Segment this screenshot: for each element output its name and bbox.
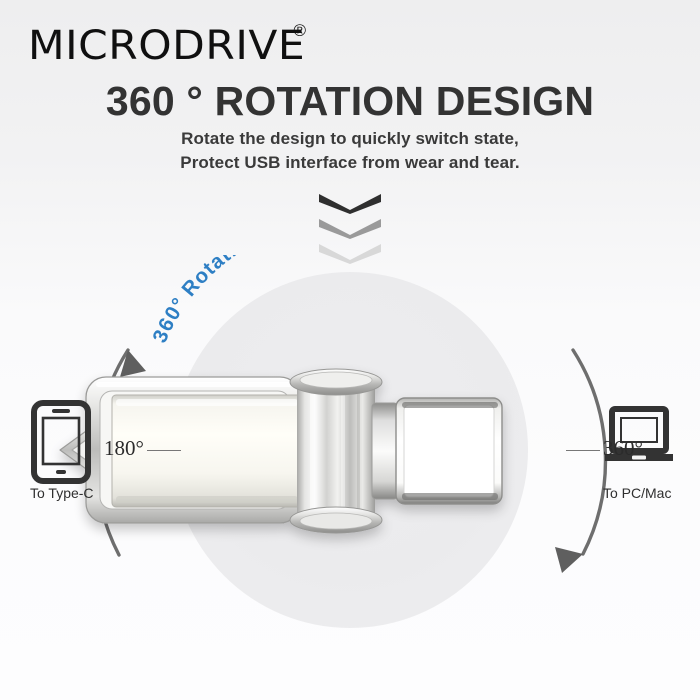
connector-neck (372, 403, 398, 499)
right-device-caption: To PC/Mac (603, 485, 671, 501)
subtitle-line-1: Rotate the design to quickly switch stat… (0, 127, 700, 151)
rotation-arrow-right (555, 350, 605, 573)
brand-logo: MICRODRIVE ® (28, 26, 306, 66)
product-marketing-banner: MICRODRIVE ® 360 ° ROTATION DESIGN Rotat… (0, 0, 700, 700)
page-title: 360 ° ROTATION DESIGN (0, 78, 700, 125)
left-angle-label: 180° (104, 436, 181, 461)
subtitle-line-2: Protect USB interface from wear and tear… (0, 151, 700, 175)
chevron-down-icon (317, 217, 383, 239)
smartphone-icon (30, 400, 92, 484)
brand-name: MICRODRIVE (28, 26, 305, 66)
chevron-down-icon (317, 192, 383, 214)
page-subtitle: Rotate the design to quickly switch stat… (0, 127, 700, 175)
right-angle-label: 360° (566, 436, 643, 461)
type-c-connector (372, 398, 502, 504)
hinge-barrel (290, 369, 382, 533)
left-device-caption: To Type-C (30, 485, 94, 501)
